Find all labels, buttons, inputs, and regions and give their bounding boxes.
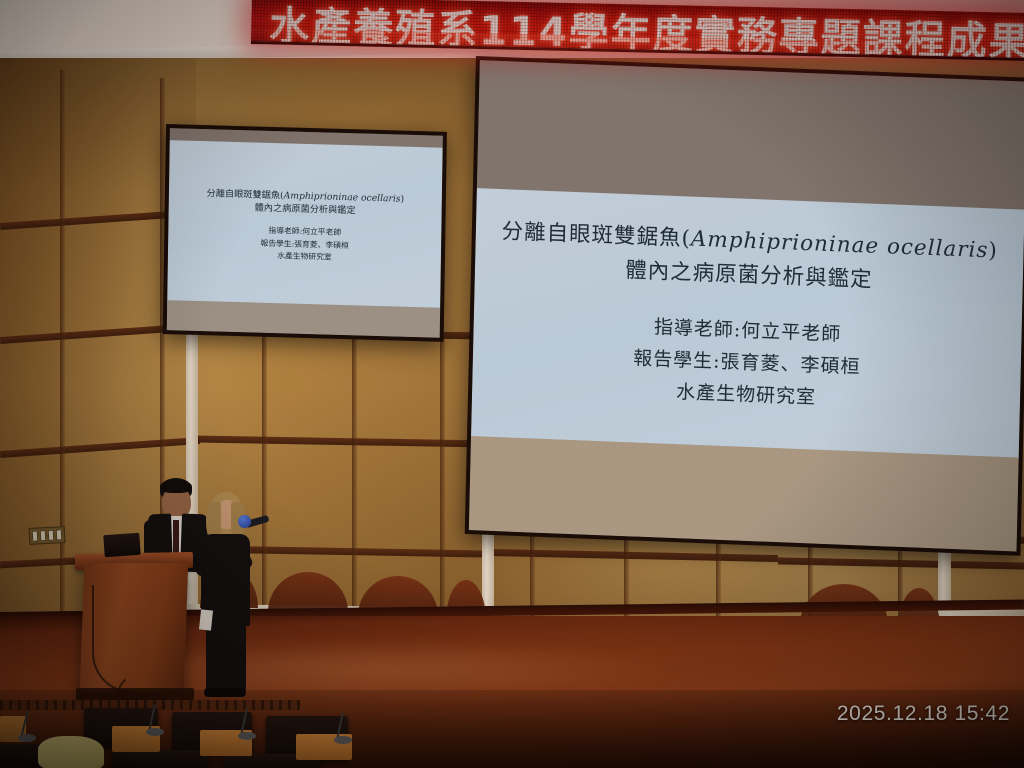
main-screen-surface: 分離自眼斑雙鋸魚(Amphiprioninae ocellaris) 體內之病原… — [469, 60, 1024, 551]
switch-toggle[interactable] — [40, 530, 47, 541]
slide-title-suffix: ) — [988, 238, 998, 263]
desk-microphone-base — [238, 732, 256, 740]
slide-title-suffix: ) — [400, 194, 404, 205]
main-projection-screen: 分離自眼斑雙鋸魚(Amphiprioninae ocellaris) 體內之病原… — [465, 56, 1024, 556]
slide-title-prefix: 分離自眼斑雙鋸魚( — [206, 188, 283, 201]
camera-timestamp: 2025.12.18 15:42 — [837, 702, 1010, 726]
draped-coat — [38, 736, 104, 768]
necktie — [173, 520, 179, 554]
podium-laptop — [103, 533, 140, 557]
trousers — [206, 620, 246, 692]
desk-microphone-base — [334, 736, 352, 744]
secondary-screen-surface: 分離自眼斑雙鋸魚(Amphiprioninae ocellaris) 體內之病原… — [167, 128, 443, 338]
screen-unused-margin-bottom — [167, 300, 440, 338]
presentation-slide-duplicate: 分離自眼斑雙鋸魚(Amphiprioninae ocellaris) 體內之病原… — [167, 140, 443, 314]
slide-title-prefix: 分離自眼斑雙鋸魚( — [501, 219, 691, 251]
audience-seat — [112, 750, 208, 768]
desk-microphone-base — [146, 728, 164, 736]
auditorium-photo: 分離自眼斑雙鋸魚(Amphiprioninae ocellaris) 體內之病原… — [0, 0, 1024, 768]
switch-toggle[interactable] — [32, 530, 39, 541]
panel-seam-vertical — [352, 336, 357, 614]
light-switch-panel[interactable] — [29, 526, 66, 545]
slide-credits: 指導老師:何立平老師 報告學生:張育菱、李碩桓 水產生物研究室 — [260, 225, 349, 265]
presenter-female — [200, 492, 270, 692]
microphone-head — [238, 515, 251, 528]
screen-unused-margin-bottom — [469, 436, 1019, 551]
panel-seam-vertical — [440, 338, 445, 618]
switch-toggle[interactable] — [48, 530, 55, 541]
slide-content: 分離自眼斑雙鋸魚(Amphiprioninae ocellaris) 體內之病原… — [471, 188, 1024, 461]
slide-lab: 水產生物研究室 — [260, 250, 349, 265]
slide-title-line-2: 體內之病原菌分析與鑑定 — [255, 202, 356, 218]
desk-microphone-base — [18, 734, 36, 742]
slide-content: 分離自眼斑雙鋸魚(Amphiprioninae ocellaris) 體內之病原… — [167, 140, 443, 314]
hair-fringe — [160, 480, 192, 493]
slide-credits: 指導老師:何立平老師 報告學生:張育菱、李碩桓 水產生物研究室 — [632, 310, 862, 415]
slide-students: 報告學生:張育菱、李碩桓 — [260, 237, 349, 252]
held-paper — [199, 609, 213, 630]
secondary-projection-screen: 分離自眼斑雙鋸魚(Amphiprioninae ocellaris) 體內之病原… — [163, 124, 447, 342]
screen-unused-margin-top — [477, 60, 1024, 209]
switch-toggle[interactable] — [56, 529, 63, 540]
presentation-slide: 分離自眼斑雙鋸魚(Amphiprioninae ocellaris) 體內之病原… — [471, 188, 1024, 461]
